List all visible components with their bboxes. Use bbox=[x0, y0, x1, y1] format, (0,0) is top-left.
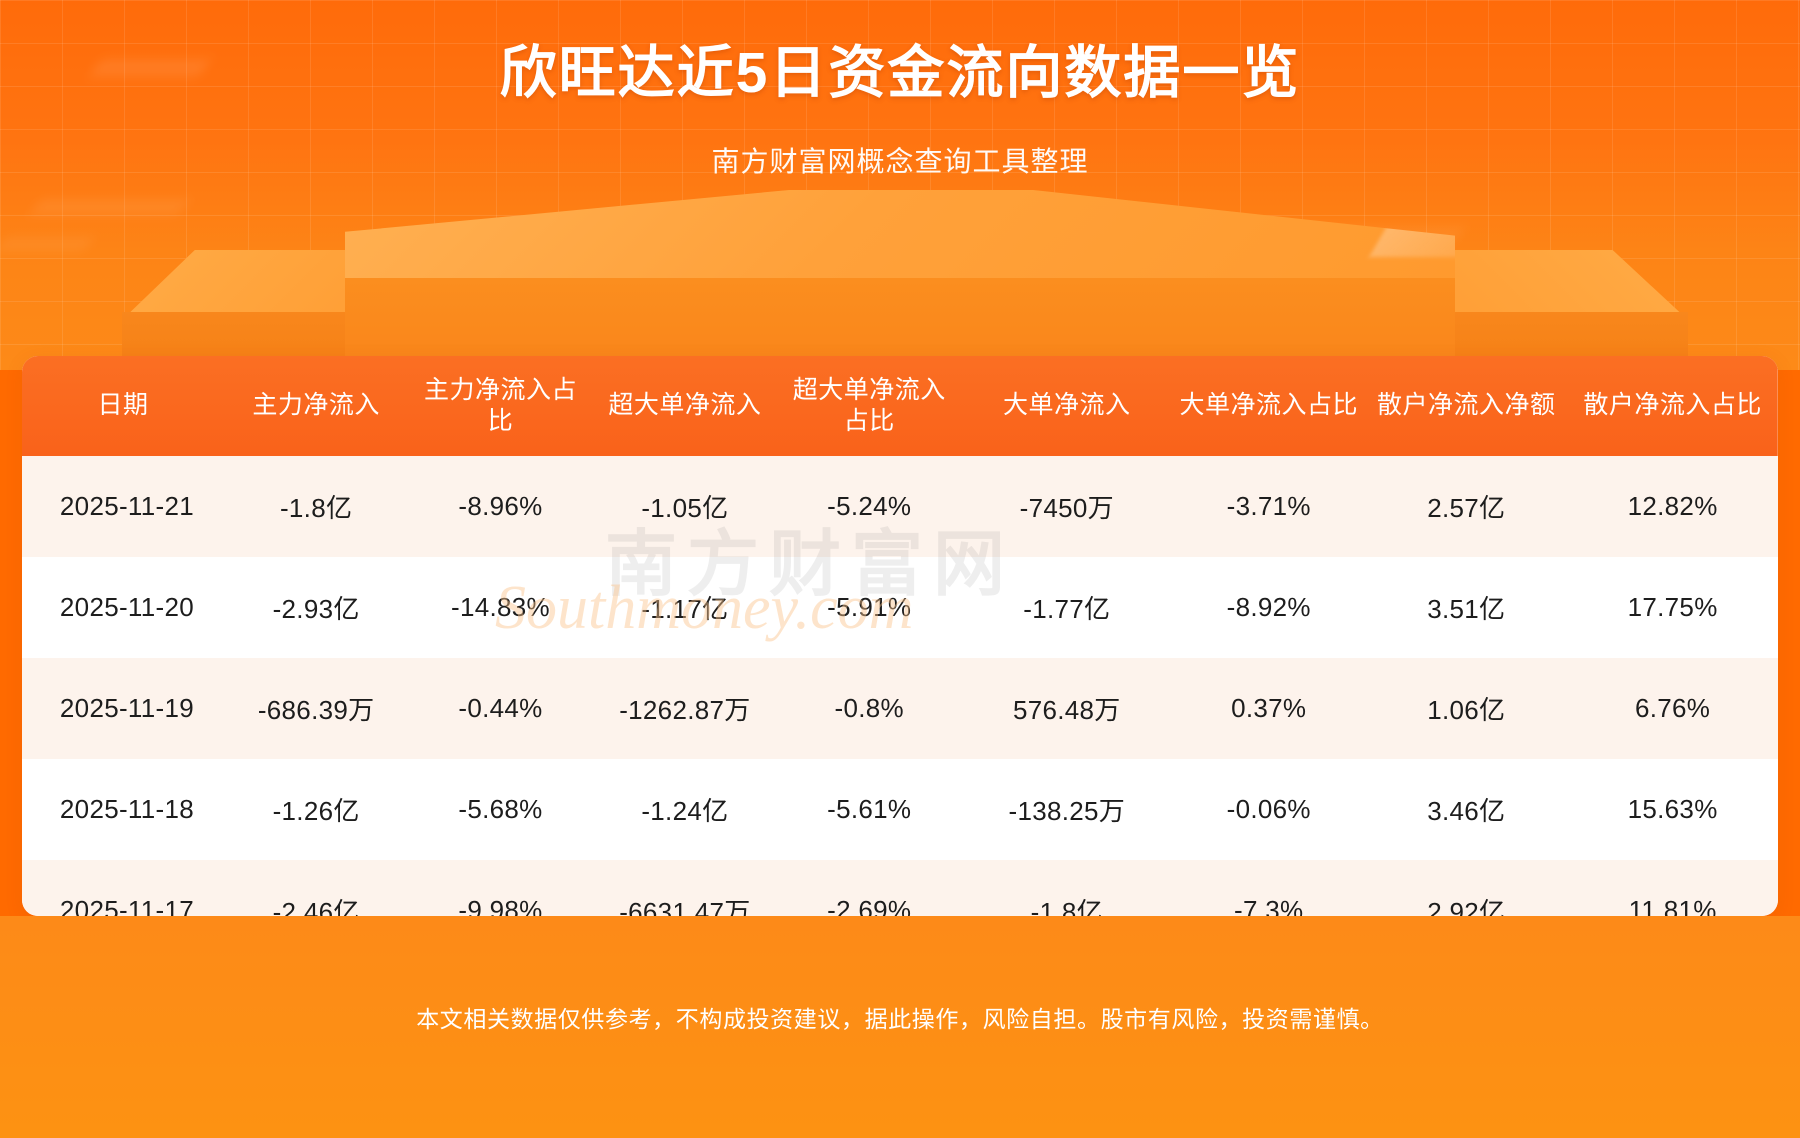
cell-retail-net-inflow-pct: 17.75% bbox=[1567, 557, 1778, 658]
table-row: 2025-11-20 -2.93亿 -14.83% -1.17亿 -5.91% … bbox=[22, 557, 1778, 658]
cell-super-large-net-inflow-pct: -0.8% bbox=[777, 658, 961, 759]
cell-large-net-inflow: -138.25万 bbox=[961, 759, 1172, 860]
table-header: 日期 主力净流入 主力净流入占比 超大单净流入 超大单净流入占比 大单净流入 大… bbox=[22, 356, 1778, 456]
cell-date: 2025-11-20 bbox=[22, 557, 224, 658]
fund-flow-table: 日期 主力净流入 主力净流入占比 超大单净流入 超大单净流入占比 大单净流入 大… bbox=[22, 356, 1778, 916]
hero-banner: 欣旺达近5日资金流向数据一览 南方财富网概念查询工具整理 bbox=[0, 0, 1800, 370]
cell-date: 2025-11-21 bbox=[22, 456, 224, 557]
cell-main-net-inflow: -1.8亿 bbox=[224, 456, 408, 557]
cell-super-large-net-inflow: -1.05亿 bbox=[593, 456, 777, 557]
podium-illustration bbox=[0, 190, 1800, 370]
column-header-large-net-inflow[interactable]: 大单净流入 bbox=[961, 356, 1172, 456]
table-header-row: 日期 主力净流入 主力净流入占比 超大单净流入 超大单净流入占比 大单净流入 大… bbox=[22, 356, 1778, 456]
cell-main-net-inflow-pct: -9.98% bbox=[408, 860, 592, 916]
cell-retail-net-inflow-pct: 12.82% bbox=[1567, 456, 1778, 557]
column-header-main-net-inflow[interactable]: 主力净流入 bbox=[224, 356, 408, 456]
cell-super-large-net-inflow-pct: -2.69% bbox=[777, 860, 961, 916]
cell-super-large-net-inflow-pct: -5.61% bbox=[777, 759, 961, 860]
column-header-retail-net-inflow-pct[interactable]: 散户净流入占比 bbox=[1567, 356, 1778, 456]
table-row: 2025-11-18 -1.26亿 -5.68% -1.24亿 -5.61% -… bbox=[22, 759, 1778, 860]
cell-large-net-inflow: -7450万 bbox=[961, 456, 1172, 557]
page-subtitle: 南方财富网概念查询工具整理 bbox=[0, 140, 1800, 180]
cell-super-large-net-inflow-pct: -5.24% bbox=[777, 456, 961, 557]
cell-main-net-inflow: -2.46亿 bbox=[224, 860, 408, 916]
cell-large-net-inflow-pct: -0.06% bbox=[1172, 759, 1365, 860]
cell-large-net-inflow: -1.77亿 bbox=[961, 557, 1172, 658]
table-row: 2025-11-17 -2.46亿 -9.98% -6631.47万 -2.69… bbox=[22, 860, 1778, 916]
column-header-super-large-net-inflow[interactable]: 超大单净流入 bbox=[593, 356, 777, 456]
disclaimer-text: 本文相关数据仅供参考，不构成投资建议，据此操作，风险自担。股市有风险，投资需谨慎… bbox=[0, 1000, 1800, 1034]
cell-super-large-net-inflow: -1.24亿 bbox=[593, 759, 777, 860]
cell-retail-net-inflow: 2.92亿 bbox=[1365, 860, 1567, 916]
cell-main-net-inflow: -1.26亿 bbox=[224, 759, 408, 860]
cell-super-large-net-inflow: -6631.47万 bbox=[593, 860, 777, 916]
cell-retail-net-inflow: 3.46亿 bbox=[1365, 759, 1567, 860]
cell-main-net-inflow: -2.93亿 bbox=[224, 557, 408, 658]
podium-highlight bbox=[1369, 202, 1591, 257]
cell-main-net-inflow: -686.39万 bbox=[224, 658, 408, 759]
data-table-card: 日期 主力净流入 主力净流入占比 超大单净流入 超大单净流入占比 大单净流入 大… bbox=[22, 356, 1778, 916]
cell-retail-net-inflow: 1.06亿 bbox=[1365, 658, 1567, 759]
cell-retail-net-inflow: 2.57亿 bbox=[1365, 456, 1567, 557]
cell-retail-net-inflow-pct: 15.63% bbox=[1567, 759, 1778, 860]
cell-super-large-net-inflow-pct: -5.91% bbox=[777, 557, 961, 658]
cell-main-net-inflow-pct: -5.68% bbox=[408, 759, 592, 860]
cell-date: 2025-11-19 bbox=[22, 658, 224, 759]
cell-large-net-inflow-pct: -3.71% bbox=[1172, 456, 1365, 557]
column-header-date[interactable]: 日期 bbox=[22, 356, 224, 456]
cell-super-large-net-inflow: -1.17亿 bbox=[593, 557, 777, 658]
cell-date: 2025-11-18 bbox=[22, 759, 224, 860]
page-title: 欣旺达近5日资金流向数据一览 bbox=[0, 42, 1800, 105]
cell-date: 2025-11-17 bbox=[22, 860, 224, 916]
cell-super-large-net-inflow: -1262.87万 bbox=[593, 658, 777, 759]
cell-large-net-inflow-pct: 0.37% bbox=[1172, 658, 1365, 759]
table-row: 2025-11-19 -686.39万 -0.44% -1262.87万 -0.… bbox=[22, 658, 1778, 759]
table-body: 2025-11-21 -1.8亿 -8.96% -1.05亿 -5.24% -7… bbox=[22, 456, 1778, 916]
cell-retail-net-inflow-pct: 6.76% bbox=[1567, 658, 1778, 759]
podium-center-block-top bbox=[345, 190, 1455, 285]
column-header-main-net-inflow-pct[interactable]: 主力净流入占比 bbox=[408, 356, 592, 456]
cell-large-net-inflow-pct: -8.92% bbox=[1172, 557, 1365, 658]
column-header-large-net-inflow-pct[interactable]: 大单净流入占比 bbox=[1172, 356, 1365, 456]
cell-main-net-inflow-pct: -0.44% bbox=[408, 658, 592, 759]
cell-large-net-inflow: 576.48万 bbox=[961, 658, 1172, 759]
cell-retail-net-inflow: 3.51亿 bbox=[1365, 557, 1567, 658]
column-header-retail-net-inflow[interactable]: 散户净流入净额 bbox=[1365, 356, 1567, 456]
cell-large-net-inflow: -1.8亿 bbox=[961, 860, 1172, 916]
footer-band: 本文相关数据仅供参考，不构成投资建议，据此操作，风险自担。股市有风险，投资需谨慎… bbox=[0, 916, 1800, 1138]
cell-retail-net-inflow-pct: 11.81% bbox=[1567, 860, 1778, 916]
cell-main-net-inflow-pct: -14.83% bbox=[408, 557, 592, 658]
table-row: 2025-11-21 -1.8亿 -8.96% -1.05亿 -5.24% -7… bbox=[22, 456, 1778, 557]
cell-large-net-inflow-pct: -7.3% bbox=[1172, 860, 1365, 916]
column-header-super-large-net-inflow-pct[interactable]: 超大单净流入占比 bbox=[777, 356, 961, 456]
cell-main-net-inflow-pct: -8.96% bbox=[408, 456, 592, 557]
